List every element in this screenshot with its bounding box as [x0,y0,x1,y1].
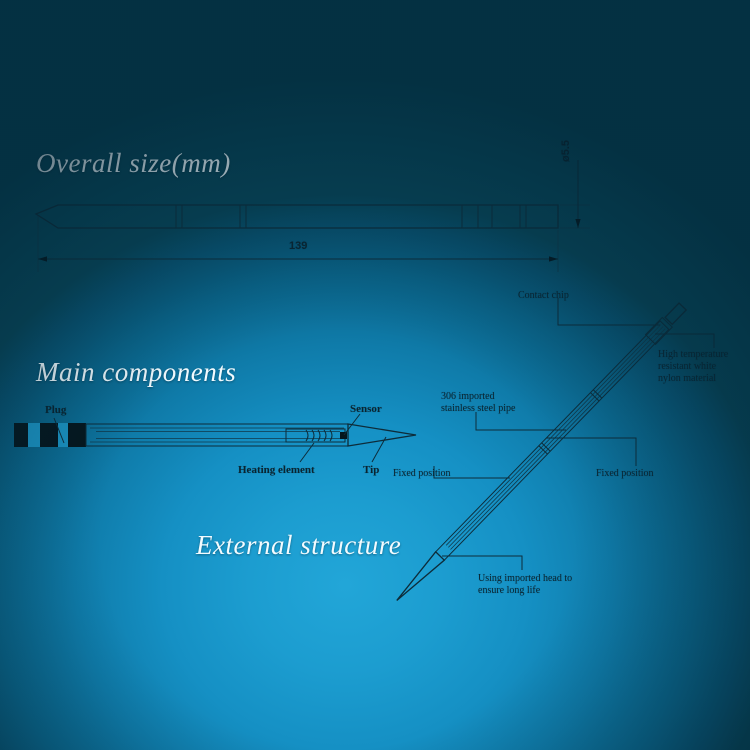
label-nylon-line2: resistant white [658,361,716,373]
label-steel-line1: 306 imported [441,391,495,403]
label-head-line2: ensure long life [478,585,540,597]
label-fixed-position-right: Fixed position [596,468,654,480]
label-nylon-line1: High temperature [658,349,728,361]
diagram-canvas: Overall size(mm) 139 ø5.5 Main component… [0,0,750,750]
label-contact-chip: Contact chip [518,290,569,302]
label-steel-line2: stainless steel pipe [441,403,515,415]
label-fixed-position-left: Fixed position [393,468,451,480]
label-head-line1: Using imported head to [478,573,572,585]
label-nylon-line3: nylon material [658,373,716,385]
external-structure-drawing [0,0,750,750]
